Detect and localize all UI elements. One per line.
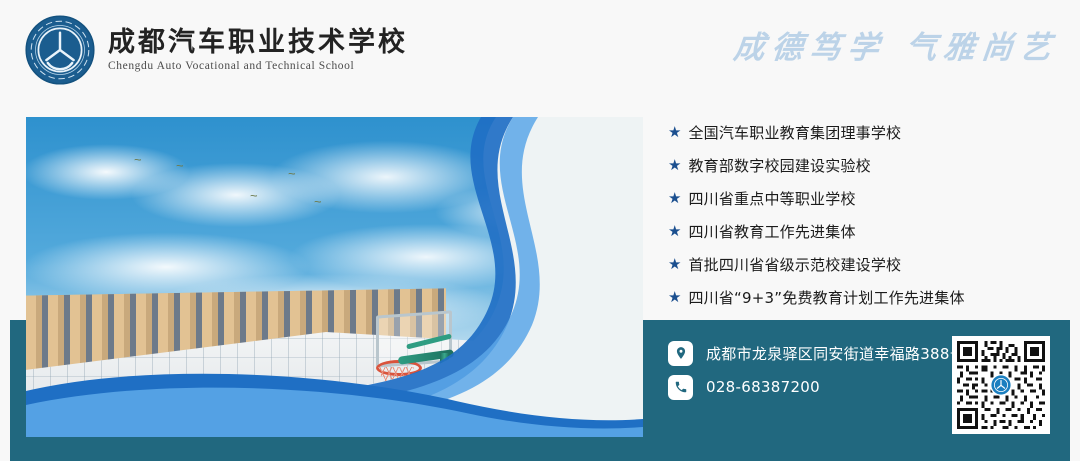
star-icon: ★ [668, 290, 681, 305]
qr-canvas [957, 341, 1045, 429]
star-icon: ★ [668, 125, 681, 140]
achievement-text: 全国汽车职业教育集团理事学校 [688, 122, 901, 143]
achievement-text: 四川省“9+3”免费教育计划工作先进集体 [688, 287, 964, 308]
achievements-list: ★ 全国汽车职业教育集团理事学校 ★ 教育部数字校园建设实验校 ★ 四川省重点中… [668, 116, 1068, 314]
poster-root: 成都汽车职业技术学校 Chengdu Auto Vocational and T… [0, 0, 1080, 461]
header: 成都汽车职业技术学校 Chengdu Auto Vocational and T… [0, 0, 1080, 110]
achievement-text: 四川省重点中等职业学校 [688, 188, 855, 209]
star-icon: ★ [668, 191, 681, 206]
star-icon: ★ [668, 158, 681, 173]
brand-text: 成都汽车职业技术学校 Chengdu Auto Vocational and T… [108, 28, 408, 71]
achievement-text: 首批四川省省级示范校建设学校 [688, 254, 901, 275]
phone-icon [668, 375, 693, 400]
slogan-part-1: 成德笃学 [732, 30, 888, 66]
school-emblem-icon [24, 14, 96, 86]
list-item: ★ 全国汽车职业教育集团理事学校 [668, 116, 1068, 149]
qr-code[interactable] [952, 336, 1050, 434]
contact-block: 成都市龙泉驿区同安街道幸福路388号 028-68387200 [668, 336, 965, 404]
star-icon: ★ [668, 224, 681, 239]
star-icon: ★ [668, 257, 681, 272]
list-item: ★ 四川省教育工作先进集体 [668, 215, 1068, 248]
slogan-part-2: 气雅尚艺 [904, 30, 1060, 66]
achievement-text: 教育部数字校园建设实验校 [688, 155, 870, 176]
bottom-wave-decoration [26, 357, 643, 437]
achievement-text: 四川省教育工作先进集体 [688, 221, 855, 242]
contact-address-row: 成都市龙泉驿区同安街道幸福路388号 [668, 336, 965, 370]
school-name-en: Chengdu Auto Vocational and Technical Sc… [108, 60, 408, 72]
location-pin-icon [668, 341, 693, 366]
list-item: ★ 四川省重点中等职业学校 [668, 182, 1068, 215]
list-item: ★ 四川省“9+3”免费教育计划工作先进集体 [668, 281, 1068, 314]
brand-block: 成都汽车职业技术学校 Chengdu Auto Vocational and T… [24, 14, 408, 86]
slogan: 成德笃学气雅尚艺 [732, 22, 1061, 67]
contact-phone-row: 028-68387200 [668, 370, 965, 404]
school-name-cn: 成都汽车职业技术学校 [108, 28, 408, 58]
list-item: ★ 首批四川省省级示范校建设学校 [668, 248, 1068, 281]
phone-text: 028-68387200 [706, 378, 820, 396]
list-item: ★ 教育部数字校园建设实验校 [668, 149, 1068, 182]
school-emblem-icon [990, 374, 1012, 396]
address-text: 成都市龙泉驿区同安街道幸福路388号 [706, 343, 965, 364]
campus-photo: ~ ~ ~ ~ ~ ~ ~ ~ 体育馆 [26, 117, 643, 437]
